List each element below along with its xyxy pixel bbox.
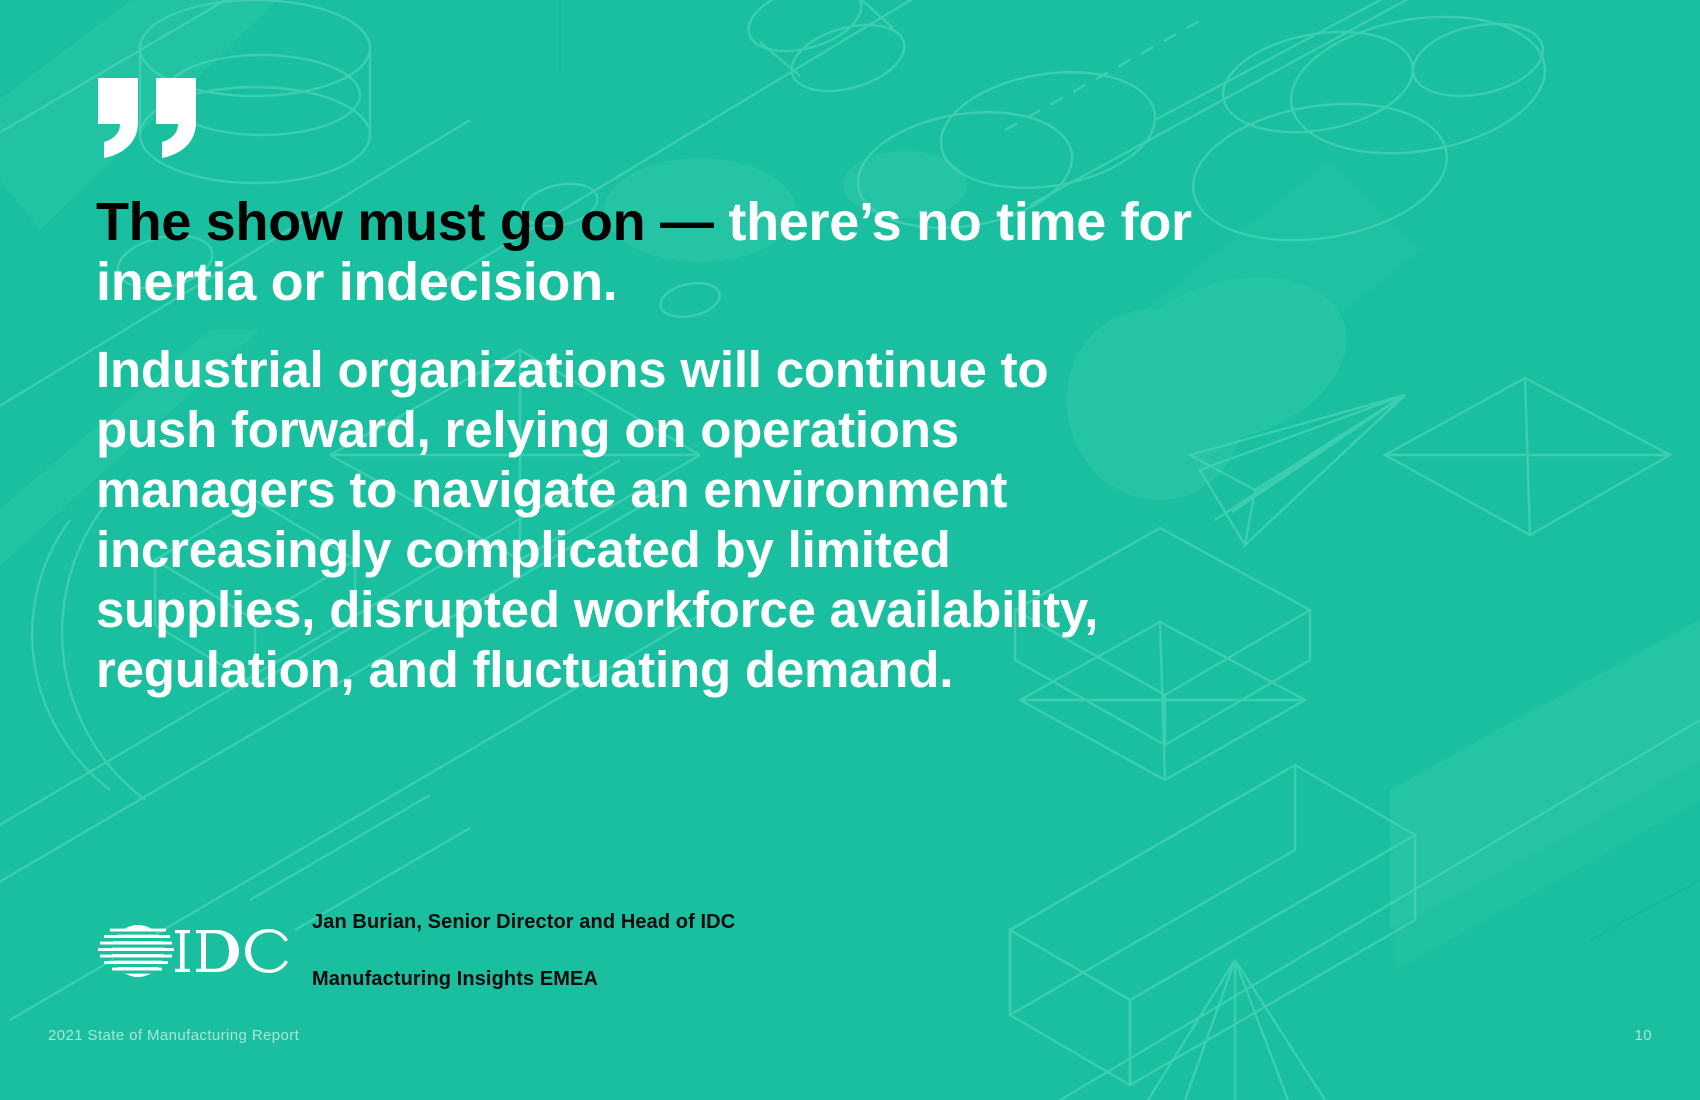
idc-logo <box>96 920 292 982</box>
footer-report-title: 2021 State of Manufacturing Report <box>48 1027 299 1044</box>
attribution-line-2: Manufacturing Insights EMEA <box>312 965 735 993</box>
footer-page-number: 10 <box>1635 1027 1653 1044</box>
headline-dash: — <box>645 192 728 252</box>
attribution-line-1: Jan Burian, Senior Director and Head of … <box>312 908 735 936</box>
headline-emphasis: The show must go on <box>96 192 645 252</box>
quotation-mark-icon <box>96 78 206 158</box>
attribution-text: Jan Burian, Senior Director and Head of … <box>312 880 735 1022</box>
quote-headline: The show must go on — there’s no time fo… <box>96 192 1206 313</box>
attribution-block: Jan Burian, Senior Director and Head of … <box>96 880 735 1022</box>
quote-body-paragraph: Industrial organizations will continue t… <box>96 340 1106 700</box>
quote-slide: The show must go on — there’s no time fo… <box>0 0 1700 1100</box>
